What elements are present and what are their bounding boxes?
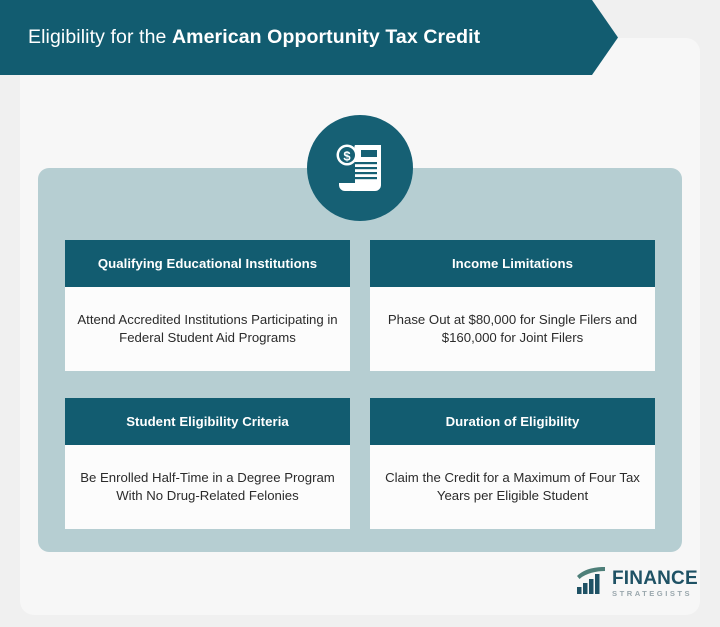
logo-word-finance: FINANCE bbox=[612, 569, 698, 588]
card-qualifying-educational-institutions: Qualifying Educational Institutions Atte… bbox=[65, 240, 350, 371]
card-title: Qualifying Educational Institutions bbox=[65, 240, 350, 287]
card-body: Claim the Credit for a Maximum of Four T… bbox=[370, 445, 655, 529]
finance-strategists-logo: FINANCE STRATEGISTS bbox=[575, 563, 693, 603]
eligibility-card-grid: Qualifying Educational Institutions Atte… bbox=[65, 240, 655, 529]
logo-wordmark: FINANCE STRATEGISTS bbox=[612, 569, 698, 598]
card-title: Duration of Eligibility bbox=[370, 398, 655, 445]
page-title-light: Eligibility for the bbox=[28, 26, 172, 48]
card-income-limitations: Income Limitations Phase Out at $80,000 … bbox=[370, 240, 655, 371]
card-title: Income Limitations bbox=[370, 240, 655, 287]
page-title-strong: American Opportunity Tax Credit bbox=[172, 26, 480, 48]
page-title: Eligibility for the American Opportunity… bbox=[0, 26, 480, 49]
svg-text:$: $ bbox=[343, 148, 351, 163]
tax-document-dollar-icon: $ bbox=[307, 115, 413, 221]
card-duration-of-eligibility: Duration of Eligibility Claim the Credit… bbox=[370, 398, 655, 529]
infographic-root: Eligibility for the American Opportunity… bbox=[0, 0, 720, 627]
logo-word-strategists: STRATEGISTS bbox=[612, 590, 698, 598]
card-body: Be Enrolled Half-Time in a Degree Progra… bbox=[65, 445, 350, 529]
card-body: Phase Out at $80,000 for Single Filers a… bbox=[370, 287, 655, 371]
card-student-eligibility-criteria: Student Eligibility Criteria Be Enrolled… bbox=[65, 398, 350, 529]
card-body: Attend Accredited Institutions Participa… bbox=[65, 287, 350, 371]
card-title: Student Eligibility Criteria bbox=[65, 398, 350, 445]
logo-bridge-chart-icon bbox=[575, 567, 607, 600]
header-banner: Eligibility for the American Opportunity… bbox=[0, 0, 618, 75]
